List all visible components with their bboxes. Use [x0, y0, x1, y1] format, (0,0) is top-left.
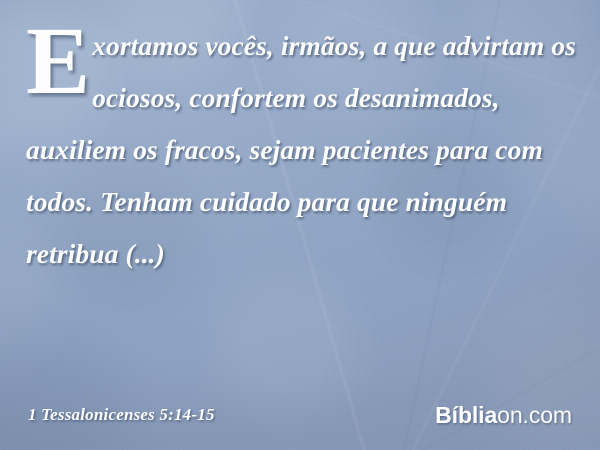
bible-verse-card: Exortamos vocês, irmãos, a que advirtam …	[0, 0, 600, 450]
verse-drop-cap: E	[26, 22, 90, 100]
verse-line-5: Tenham cuidado para que ninguém	[100, 186, 507, 217]
verse-reference: 1 Tessalonicenses 5:14-15	[28, 405, 215, 425]
card-footer: 1 Tessalonicenses 5:14-15 Bíbliaon.com	[0, 386, 600, 450]
card-content: Exortamos vocês, irmãos, a que advirtam …	[0, 0, 600, 450]
logo-light-text: on.com	[497, 402, 572, 429]
verse-line-1: xortamos vocês, irmãos, a que	[92, 30, 436, 61]
verse-text: Exortamos vocês, irmãos, a que advirtam …	[26, 20, 584, 280]
verse-line-6: retribua (...)	[26, 238, 165, 269]
bibliaon-logo[interactable]: Bíbliaon.com	[435, 402, 572, 429]
logo-bold-text: Bíblia	[435, 402, 497, 429]
